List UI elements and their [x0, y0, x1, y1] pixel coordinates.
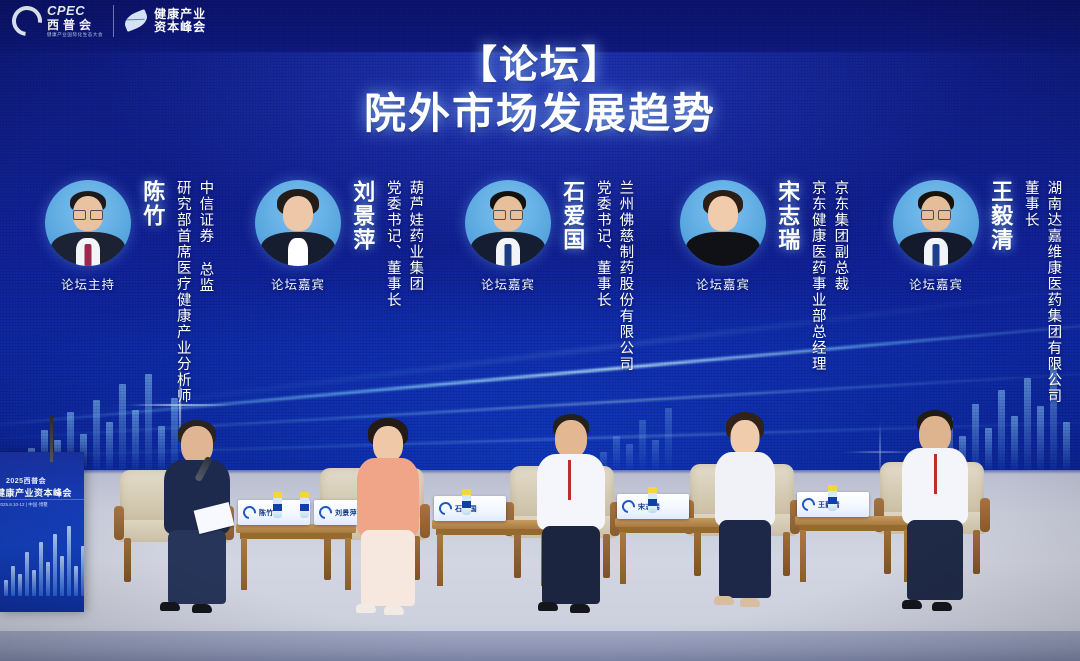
health-capital-summit-logo: 健康产业 资本峰会 [124, 8, 206, 33]
panelist-name: 王毅清 [988, 180, 1012, 252]
panelist-role: 论坛嘉宾 [696, 274, 750, 293]
podium-banner: 2025西普会 健康产业资本峰会 2025.8.10-12 | 中国·博鳌 [0, 452, 84, 612]
cpec-logo: CPEC 西普会 健康产业国际化生态大会 [12, 4, 103, 38]
conference-stage-photo: CPEC 西普会 健康产业国际化生态大会 健康产业 资本峰会 【论坛】 院外市场… [0, 0, 1080, 661]
panelist-name: 石爱国 [560, 180, 584, 252]
panelist-position: 董事长 [1020, 180, 1040, 404]
microphone-stand [50, 416, 53, 462]
panelist-role: 论坛嘉宾 [909, 274, 963, 293]
lanyard [934, 454, 937, 494]
water-bottle [462, 489, 471, 515]
forum-title-block: 【论坛】 院外市场发展趋势 [0, 46, 1080, 137]
shoe [932, 602, 952, 611]
seated-person-moderator [152, 420, 242, 620]
shoe [740, 598, 760, 607]
panelist-card: 论坛嘉宾 石爱国 兰州佛慈制药股份有限公司 党委书记、董事长 [462, 180, 634, 372]
shoe [570, 604, 590, 613]
panelist-card: 论坛主持 陈竹 中信证券 总监 研究部首席医疗健康产业分析师 [42, 180, 214, 404]
water-bottle [273, 492, 282, 518]
seated-person-panelist [892, 410, 978, 616]
seated-person-panelist [704, 412, 786, 616]
shoe [384, 606, 404, 615]
seated-person-panelist [346, 418, 430, 618]
avatar [45, 180, 131, 266]
panelist-role: 论坛主持 [61, 274, 115, 293]
circle-logo-icon [240, 503, 258, 521]
glasses-icon [73, 210, 103, 218]
panelist-org: 中信证券 总监 [195, 180, 215, 404]
shoe [356, 604, 376, 613]
shoe [714, 596, 734, 605]
event-logo-bar: CPEC 西普会 健康产业国际化生态大会 健康产业 资本峰会 [12, 4, 206, 38]
podium-line3: 2025.8.10-12 | 中国·博鳌 [0, 502, 48, 508]
nameplate-text: 陈竹 [259, 508, 274, 518]
cpec-tagline: 健康产业国际化生态大会 [47, 33, 103, 38]
seated-person-panelist [528, 414, 614, 618]
podium-divider [0, 499, 84, 500]
cpec-name-cn: 西普会 [47, 19, 103, 31]
panelist-org: 兰州佛慈制药股份有限公司 [615, 180, 635, 372]
panelist-name: 宋志瑞 [775, 180, 799, 252]
panelist-name: 陈竹 [140, 180, 164, 228]
panelist-org: 葫芦娃药业集团 [405, 180, 425, 308]
panelist-card: 论坛嘉宾 王毅清 湖南达嘉维康医药集团有限公司 董事长 [890, 180, 1062, 404]
panelist-card: 论坛嘉宾 宋志瑞 京东集团副总裁 京东健康医药事业部总经理 [677, 180, 849, 372]
water-bottle [828, 485, 837, 511]
water-bottle [648, 487, 657, 513]
avatar [255, 180, 341, 266]
panelist-position: 京东健康医药事业部总经理 [807, 180, 827, 372]
circle-logo-icon [316, 503, 334, 521]
leaf-icon [122, 9, 150, 32]
glasses-icon [493, 210, 523, 218]
shoe [902, 600, 922, 609]
podium-chart-decoration [4, 526, 84, 596]
shoe [160, 602, 180, 611]
summit-line2: 资本峰会 [154, 21, 206, 34]
panelist-name: 刘景萍 [350, 180, 374, 252]
panelist-card: 论坛嘉宾 刘景萍 葫芦娃药业集团 党委书记、董事长 [252, 180, 424, 308]
panelist-org: 湖南达嘉维康医药集团有限公司 [1043, 180, 1063, 404]
logo-divider [113, 5, 114, 37]
lanyard [568, 460, 571, 500]
panelist-position: 党委书记、董事长 [592, 180, 612, 372]
podium-line2: 健康产业资本峰会 [0, 486, 72, 499]
forum-topic: 院外市场发展趋势 [0, 91, 1080, 137]
glasses-icon [921, 210, 951, 218]
avatar [465, 180, 551, 266]
summit-line1: 健康产业 [154, 8, 206, 21]
panelist-list: 论坛主持 陈竹 中信证券 总监 研究部首席医疗健康产业分析师 论坛嘉宾 刘景萍 [0, 180, 1080, 420]
water-bottle [300, 492, 309, 518]
cpec-abbr: CPEC [47, 4, 103, 17]
stage-front-edge [0, 631, 1080, 661]
podium-line1: 2025西普会 [6, 476, 46, 486]
panelist-role: 论坛嘉宾 [271, 274, 325, 293]
circle-logo-icon [6, 0, 48, 42]
shoe [192, 604, 212, 613]
forum-label: 【论坛】 [0, 46, 1080, 87]
circle-logo-icon [619, 497, 637, 515]
avatar [680, 180, 766, 266]
circle-logo-icon [436, 499, 454, 517]
circle-logo-icon [799, 495, 817, 513]
panelist-org: 京东集团副总裁 [830, 180, 850, 372]
avatar [893, 180, 979, 266]
shoe [538, 602, 558, 611]
panelist-position: 党委书记、董事长 [382, 180, 402, 308]
panelist-position: 研究部首席医疗健康产业分析师 [172, 180, 192, 404]
panelist-role: 论坛嘉宾 [481, 274, 535, 293]
